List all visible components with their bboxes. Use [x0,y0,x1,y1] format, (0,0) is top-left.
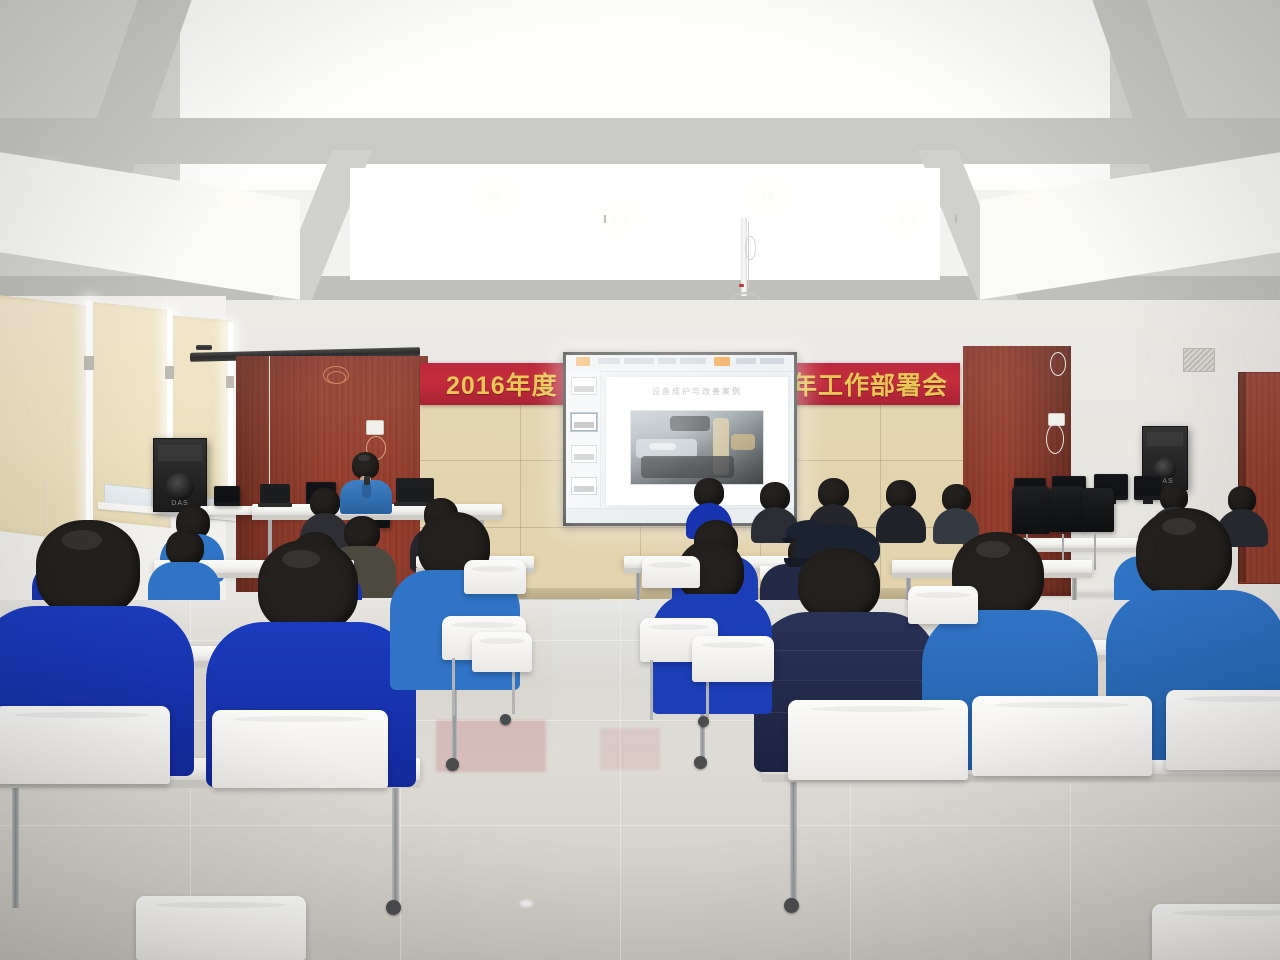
chair[interactable] [972,696,1152,776]
chair[interactable] [464,560,526,594]
presenter [336,452,398,512]
hanging-cable-coil [1050,352,1066,376]
chair[interactable] [908,586,978,624]
downlight [900,214,916,223]
monitor [214,486,240,506]
slide-thumbnail-selected[interactable] [571,413,597,431]
office-chair[interactable] [1082,488,1114,532]
slide-photo [630,410,765,484]
banner-text-right: 年工作部署会 [792,366,948,402]
window-light-gap [228,322,233,500]
slide-thumbnail[interactable] [571,377,597,395]
meeting-room-photo: DAS 2016年度 年工作部署会 DAS [0,0,1280,960]
window-light-gap [86,300,93,543]
chair[interactable] [692,636,774,682]
chair[interactable] [136,896,306,960]
slide-thumbnail[interactable] [571,445,597,463]
wall-speaker-left: DAS [153,438,207,512]
banner-text-left: 2016年度 [446,366,558,402]
chair[interactable] [212,710,388,788]
office-chair[interactable] [1012,486,1050,534]
hanging-cable-coil [327,371,346,384]
monitor [1134,476,1162,500]
downlight [230,196,246,205]
slide-thumbnail-panel[interactable] [566,371,601,509]
ceiling [0,0,1280,330]
downlight [487,192,503,201]
downlight [40,168,56,177]
powerpoint-ribbon [566,355,794,372]
laptop[interactable] [258,484,292,508]
curtain-rail [196,345,212,350]
wall-outlet[interactable] [366,420,384,435]
downlight [760,192,776,201]
slide-thumbnail[interactable] [571,477,597,495]
chair[interactable] [1152,904,1280,960]
downlight [1020,192,1036,201]
hanging-cable-coil [1046,424,1064,454]
chair[interactable] [1166,690,1280,770]
slide-title-text: 设备维护与改善案例 [621,386,774,398]
chair[interactable] [788,700,968,780]
projector-cable-loop [745,236,756,260]
floor-reflection-banner [600,728,660,770]
downlight [612,214,628,223]
chair[interactable] [642,556,700,588]
office-chair[interactable] [1050,486,1084,532]
projector-indicator [739,284,744,287]
chair[interactable] [472,632,532,672]
air-vent [1183,348,1215,372]
chair[interactable] [0,706,170,784]
window-blind[interactable] [0,294,86,541]
